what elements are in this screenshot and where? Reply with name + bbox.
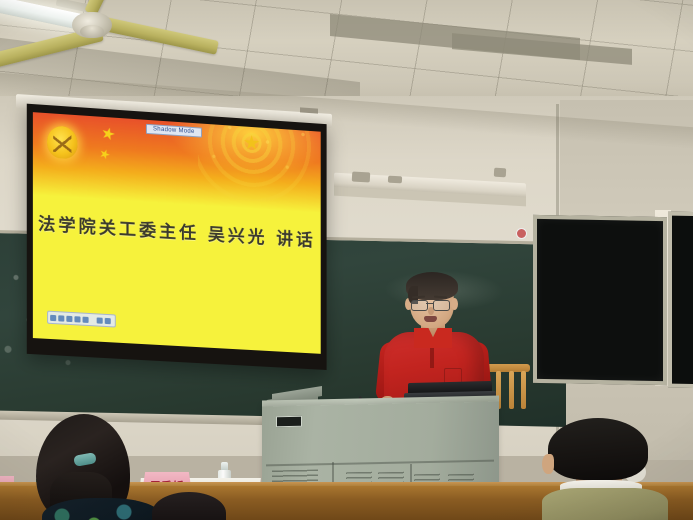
powerpoint-icon <box>72 352 79 354</box>
windows-logo-icon <box>42 351 50 354</box>
light-clamp <box>494 168 506 178</box>
windows-taskbar[interactable]: Microsoft PowerP... PowerPoint 放映 15:11 … <box>39 346 321 353</box>
board-knob <box>516 228 527 239</box>
chair-slat <box>509 371 514 409</box>
cpc-hammer-sickle-emblem-icon <box>47 125 77 159</box>
bottle-cap <box>221 462 228 470</box>
powerpoint-slideshow-control-bar[interactable] <box>47 311 116 328</box>
presenter-mouth <box>424 316 437 322</box>
presenter-nose <box>428 307 434 315</box>
pen-tool-icon[interactable] <box>66 315 72 321</box>
classroom-photo: Shadow Mode 法学院关工委主任 吴兴光 讲话 <box>0 0 693 520</box>
spacer <box>91 317 95 323</box>
chair-slat <box>521 371 526 409</box>
glasses-bridge <box>426 303 433 304</box>
search-button[interactable] <box>53 347 69 354</box>
taskbar-app-powerpoint-slideshow[interactable]: PowerPoint 放映 <box>128 352 180 354</box>
taskbar-app-powerpoint[interactable]: Microsoft PowerP... <box>69 349 127 354</box>
light-clamp <box>352 172 370 183</box>
projected-slide: Shadow Mode 法学院关工委主任 吴兴光 讲话 <box>33 112 321 354</box>
start-button[interactable] <box>39 346 53 353</box>
fan-hub <box>72 12 112 38</box>
light-clamp <box>388 176 402 184</box>
laser-pointer-icon[interactable] <box>105 317 111 323</box>
podium-label-plate <box>276 416 302 428</box>
search-icon <box>57 351 66 354</box>
seated-man-back-view <box>540 418 658 520</box>
flag-star-icon <box>98 147 111 160</box>
zoom-icon[interactable] <box>74 316 80 322</box>
dark-bulletin-board <box>533 215 667 385</box>
audience-short-hair <box>548 418 648 480</box>
dark-bulletin-board-secondary <box>668 212 693 389</box>
slide-header-gradient: Shadow Mode <box>33 112 321 213</box>
glasses-lens <box>433 300 450 311</box>
more-options-icon[interactable] <box>97 317 103 323</box>
glasses-lens <box>411 300 428 311</box>
next-slide-icon[interactable] <box>58 315 64 321</box>
flag-star-icon <box>100 126 116 142</box>
projection-screen[interactable]: Shadow Mode 法学院关工委主任 吴兴光 讲话 <box>27 104 327 370</box>
olive-shirt <box>542 488 668 520</box>
audience-ear <box>542 454 554 474</box>
slide-grid-icon[interactable] <box>83 316 89 322</box>
seated-woman-back-view <box>36 414 130 520</box>
screen-housing-logo <box>300 107 318 113</box>
sparkle-dots-decoration <box>184 116 321 196</box>
slide-title-text: 法学院关工委主任 吴兴光 讲话 <box>33 209 321 252</box>
presenter-ear <box>451 298 458 310</box>
prev-slide-icon[interactable] <box>50 314 56 320</box>
